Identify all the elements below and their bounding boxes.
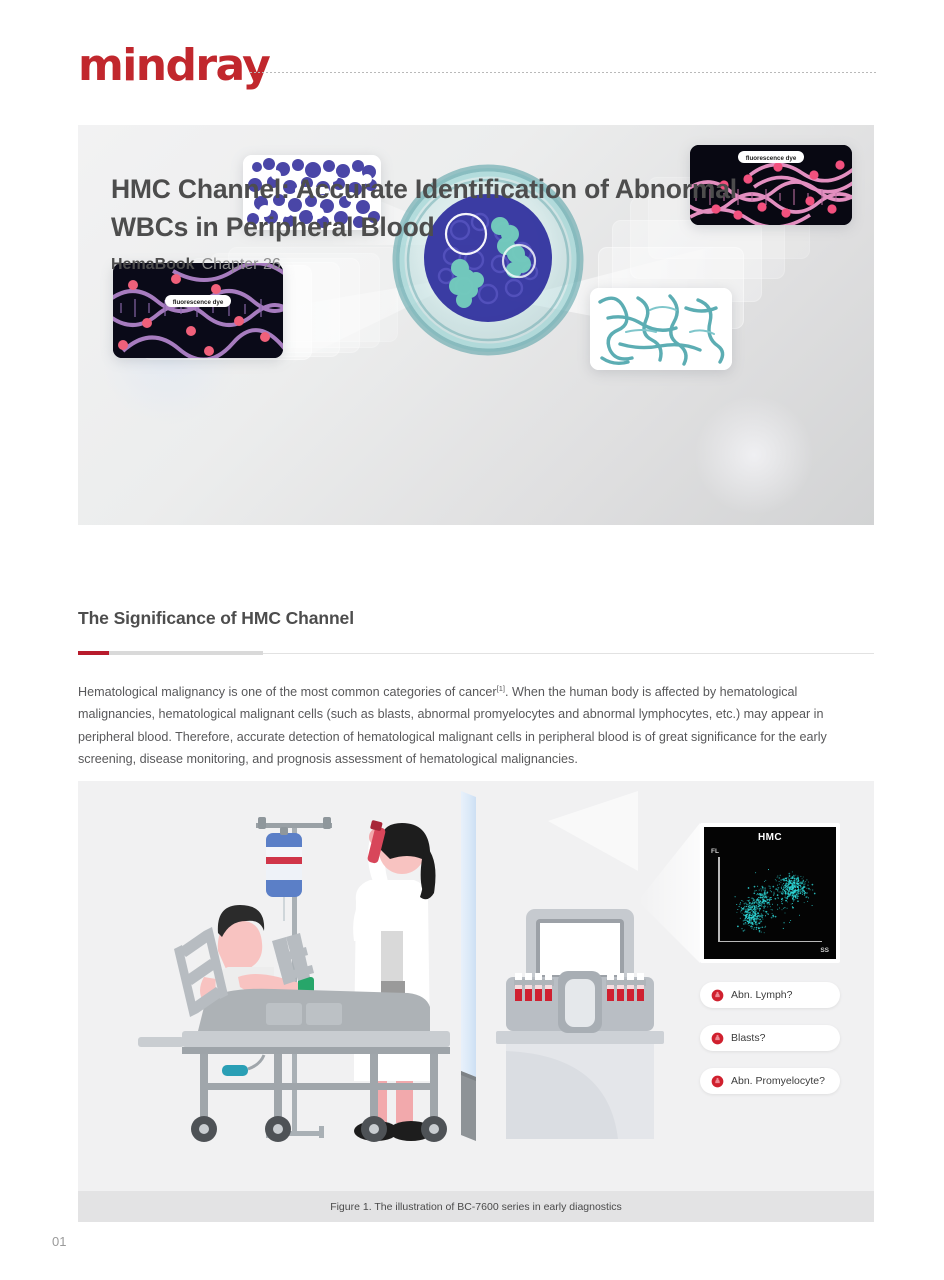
- page-number: 01: [52, 1234, 66, 1249]
- analyzer-desk: [496, 1031, 664, 1139]
- mindray-logo: mindray: [78, 40, 269, 92]
- svg-text:fluorescence dye: fluorescence dye: [746, 155, 797, 162]
- badge-label: Abn. Promyelocyte?: [731, 1075, 825, 1087]
- abnormal-cell-icon: [711, 1032, 724, 1045]
- abnormal-cell-icon: [711, 989, 724, 1002]
- hmc-scattergram: HMC FL SS: [700, 823, 840, 963]
- nurse-figure: [353, 820, 435, 1141]
- suspect-flag-list: Abn. Lymph? Blasts? Abn. Promyelocyte?: [700, 982, 840, 1111]
- body-paragraph: Hematological malignancy is one of the m…: [78, 678, 874, 770]
- figure-caption: Figure 1. The illustration of BC-7600 se…: [78, 1191, 874, 1222]
- chapter-label: Chapter 26: [202, 256, 281, 273]
- scattergram-canvas: HMC FL SS: [704, 827, 836, 959]
- page-header: mindray: [0, 40, 944, 100]
- accent-bar-red: [78, 651, 109, 655]
- series-label: HemaBook: [111, 256, 195, 273]
- hero-banner: fluorescence dye: [78, 125, 874, 525]
- card-purple-dna: fluorescence dye: [113, 263, 283, 358]
- badge-abn-lymph[interactable]: Abn. Lymph?: [700, 982, 840, 1008]
- badge-label: Blasts?: [731, 1032, 765, 1044]
- paragraph-text-1: Hematological malignancy is one of the m…: [78, 685, 497, 699]
- glass-partition: [461, 791, 476, 1141]
- hematology-analyzer: [506, 909, 654, 1033]
- section-heading: The Significance of HMC Channel: [78, 608, 874, 629]
- section-accent-bars: [78, 651, 874, 655]
- section-divider-line: [263, 653, 874, 654]
- abnormal-cell-icon: [711, 1075, 724, 1088]
- accent-bar-gray: [109, 651, 263, 655]
- logo-text: mindray: [78, 40, 269, 91]
- figure-caption-text: Figure 1. The illustration of BC-7600 se…: [330, 1201, 622, 1213]
- figure-panel: HMC FL SS Abn. Lymph?: [78, 781, 874, 1191]
- page-title: HMC Channel: Accurate Identification of …: [111, 170, 811, 246]
- svg-text:fluorescence dye: fluorescence dye: [173, 299, 224, 306]
- badge-label: Abn. Lymph?: [731, 989, 792, 1001]
- citation-marker: [1]: [497, 684, 505, 693]
- document-page: mindray: [0, 0, 944, 1280]
- scattergram-points: [704, 827, 836, 959]
- section-header: The Significance of HMC Channel: [78, 608, 874, 655]
- badge-blasts[interactable]: Blasts?: [700, 1025, 840, 1051]
- header-dotted-rule: [250, 72, 876, 73]
- hero-subtitle: HemaBookChapter 26: [111, 256, 281, 274]
- badge-abn-promyelocyte[interactable]: Abn. Promyelocyte?: [700, 1068, 840, 1094]
- card-teal-strands: [590, 288, 732, 370]
